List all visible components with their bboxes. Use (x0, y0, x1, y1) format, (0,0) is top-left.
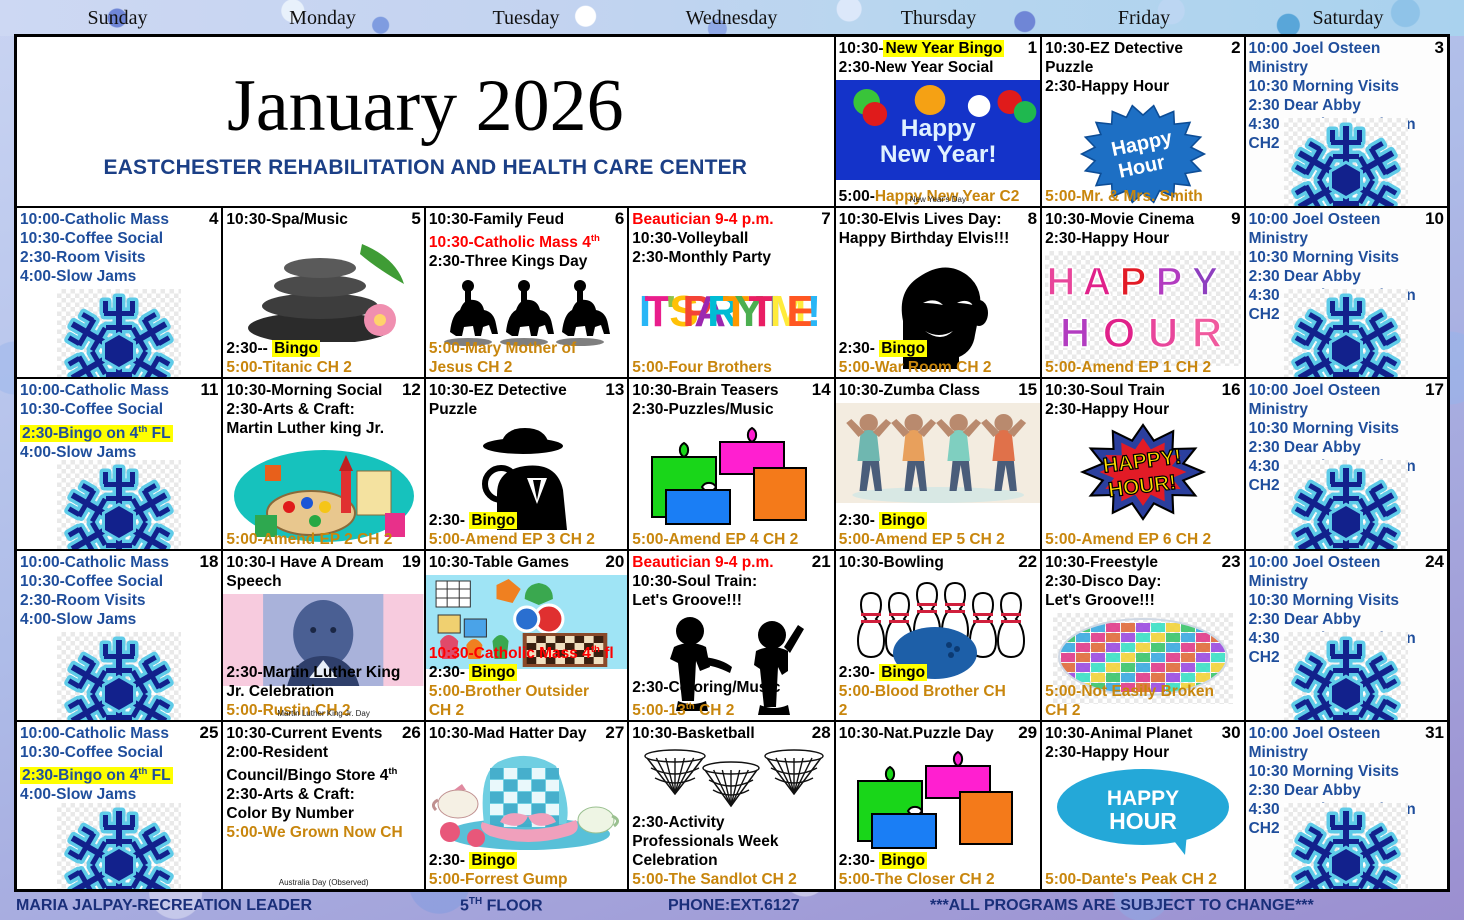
event-text: 10:00-Catholic Mass (20, 382, 169, 399)
day-top-events: 10:00-Catholic Mass10:30-Coffee Social2:… (20, 210, 218, 286)
zumba-dancers-graphic (836, 403, 1040, 503)
event-text: 10:30-Freestyle (1045, 554, 1158, 571)
event-text: 10:30-Current Events (226, 725, 382, 742)
weekday-label-thursday: Thursday (835, 0, 1042, 36)
event-text: 2:30-Activity (632, 814, 724, 831)
calendar-day-cell-4[interactable]: 410:00-Catholic Mass10:30-Coffee Social2… (16, 207, 222, 378)
day-top-events: 10:30-Bowling (839, 553, 1037, 572)
event-text: Professionals Week (632, 833, 778, 850)
day-top-events: 10:30-EZ DetectivePuzzle2:30-Happy Hour (1045, 39, 1240, 96)
day-number: 18 (200, 552, 219, 571)
day-artwork-spa-stones (223, 232, 423, 342)
event-text: Puzzle (429, 401, 477, 418)
day-bottom-events: 2:30-- Bingo5:00-Titanic CH 2 (226, 339, 420, 377)
day-top-events: 10:30-New Year Bingo2:30-New Year Social (839, 39, 1037, 77)
event-text: 10:30 Morning Visits (1249, 420, 1399, 437)
day-top-events: 10:30-Table Games (429, 553, 624, 572)
event-text: 10:30-Elvis Lives Day: (839, 211, 1002, 228)
event-text: 2:30-Monthly Party (632, 249, 771, 266)
day-number: 28 (812, 723, 831, 742)
day-top-events: 10:30-Brain Teasers2:30-Puzzles/Music (632, 381, 830, 419)
day-artwork-snowflake (17, 460, 221, 549)
event-text: New Year Bingo (883, 40, 1004, 57)
day-artwork-snowflake (17, 289, 221, 378)
calendar-day-cell-25[interactable]: 2510:00-Catholic Mass10:30-Coffee Social… (16, 721, 222, 890)
spa-stones-graphic (234, 232, 414, 342)
event-text: 2:30- (839, 664, 880, 681)
calendar-day-cell-7[interactable]: 7Beautician 9-4 p.m.10:30-Volleyball2:30… (628, 207, 834, 378)
event-text: 5:00-The Closer CH 2 (839, 871, 995, 888)
snowflake-graphic (59, 634, 179, 721)
event-text: 5:00-We Grown Now CH (226, 824, 402, 841)
day-bottom-events: 5:00-Dante's Peak CH 2 (1045, 870, 1240, 889)
event-text: 4:00-Slow Jams (20, 444, 136, 461)
event-text: 10:30-Soul Train: (632, 573, 757, 590)
day-top-events: 10:00-Catholic Mass10:30-Coffee Social2:… (20, 724, 218, 804)
event-text: 5:00-Amend EP 2 CH 2 (226, 531, 392, 548)
event-text: 2:30-Coloring/Music (632, 679, 780, 696)
snowflake-graphic (1286, 805, 1406, 890)
day-number: 12 (402, 380, 421, 399)
event-text: Let's Groove!!! (1045, 592, 1155, 609)
day-bottom-events: 2:30- Bingo5:00-Forrest Gump (429, 851, 624, 889)
event-text: 10:30-Mad Hatter Day (429, 725, 587, 742)
day-artwork-puzzle-pieces (836, 746, 1040, 856)
event-text: Speech (226, 573, 281, 590)
weekday-label-tuesday: Tuesday (424, 0, 628, 36)
day-bottom-events: 2:30-Coloring/Music5:00-13th CH 2 (632, 678, 830, 720)
day-number: 3 (1435, 38, 1444, 57)
day-artwork-zumba-dancers (836, 403, 1040, 503)
day-number: 20 (605, 552, 624, 571)
day-bottom-events: 2:30- Bingo5:00-Amend EP 5 CH 2 (839, 511, 1037, 549)
happy-new-year-banner-graphic: Happy New Year! (836, 80, 1040, 180)
calendar-day-cell-17[interactable]: 1710:00 Joel Osteen Ministry10:30 Mornin… (1245, 378, 1448, 549)
event-text: CH 2 (1045, 702, 1080, 719)
event-text: 2:30 Dear Abby (1249, 611, 1361, 628)
day-bottom-events: 5:00-Mary Mother ofJesus CH 2 (429, 339, 624, 377)
event-text: Bingo (879, 512, 927, 529)
weekday-label-friday: Friday (1042, 0, 1246, 36)
happy-hour-balloons-graphic: HAPPYHOUR (1045, 251, 1241, 361)
svg-text:New Year!: New Year! (880, 141, 997, 168)
event-text: 2 (839, 702, 848, 719)
svg-text:H: H (1046, 260, 1075, 304)
event-text: 2:30-Room Visits (20, 249, 145, 266)
calendar-day-cell-14[interactable]: 1410:30-Brain Teasers2:30-Puzzles/Music … (628, 378, 834, 549)
holiday-label: Australia Day (Observed) (223, 878, 423, 888)
calendar-day-cell-31[interactable]: 3110:00 Joel Osteen Ministry10:30 Mornin… (1245, 721, 1448, 890)
event-text: 10:30-Coffee Social (20, 573, 163, 590)
day-number: 10 (1425, 209, 1444, 228)
event-text: 2:30-- (226, 340, 272, 357)
holiday-label: Martin Luther King Jr. Day (223, 709, 423, 719)
calendar-day-cell-15[interactable]: 1510:30-Zumba Class 2:3 (835, 378, 1041, 549)
puzzle-pieces-graphic (848, 746, 1028, 856)
event-text: 5:00-Amend EP 5 CH 2 (839, 531, 1005, 548)
event-text: 2:30- (839, 340, 880, 357)
event-text: 5:00-The Sandlot CH 2 (632, 871, 797, 888)
event-text: 2:30-Martin Luther King (226, 664, 400, 681)
event-text: 2:30-Bingo on 4th FL (20, 767, 173, 784)
event-text: 2:30-Three Kings Day (429, 253, 588, 270)
day-bottom-events: 5:00-Amend EP 1 CH 2 (1045, 358, 1240, 377)
event-text: 2:30- (839, 852, 880, 869)
event-text: 10:30-Coffee Social (20, 401, 163, 418)
weekday-label-sunday: Sunday (14, 0, 221, 36)
event-text: 10:00-Catholic Mass (20, 725, 169, 742)
day-number: 16 (1222, 380, 1241, 399)
event-text: 4:00-Slow Jams (20, 786, 136, 803)
calendar-week-row: 1810:00-Catholic Mass10:30-Coffee Social… (16, 550, 1448, 721)
day-bottom-events: 2:30- Bingo5:00-War Room CH 2 (839, 339, 1037, 377)
event-text: 10:30-I Have A Dream (226, 554, 383, 571)
day-number: 26 (402, 723, 421, 742)
day-bottom-events: 2:30- Bingo5:00-Blood Brother CH2 (839, 663, 1037, 720)
day-number: 17 (1425, 380, 1444, 399)
snowflake-graphic (59, 291, 179, 378)
event-text: 5:00-Amend EP 3 CH 2 (429, 531, 595, 548)
calendar-day-cell-11[interactable]: 1110:00-Catholic Mass10:30-Coffee Social… (16, 378, 222, 549)
calendar-day-cell-28[interactable]: 2810:30-Basketball 2:30-ActivityProfessi… (628, 721, 834, 890)
calendar-day-cell-24[interactable]: 2410:00 Joel Osteen Ministry10:30 Mornin… (1245, 550, 1448, 721)
day-number: 9 (1231, 209, 1240, 228)
day-number: 7 (821, 209, 830, 228)
event-text: Bingo (469, 512, 517, 529)
day-top-events: 10:30-Morning Social2:30-Arts & Craft:Ma… (226, 381, 420, 438)
calendar-day-cell-21[interactable]: 21Beautician 9-4 p.m.10:30-Soul Train:Le… (628, 550, 834, 721)
event-text: 10:30 Morning Visits (1249, 592, 1399, 609)
day-number: 2 (1231, 38, 1240, 57)
calendar-day-cell-8[interactable]: 810:30-Elvis Lives Day:Happy Birthday El… (835, 207, 1041, 378)
event-text: 5:00-Four Brothers (632, 359, 772, 376)
day-bottom-events: 5:00-Mr. & Mrs. Smith (1045, 187, 1240, 206)
event-text: 2:30-Arts & Craft: (226, 401, 354, 418)
puzzle-pieces-graphic (642, 422, 822, 532)
event-text: 2:30 Dear Abby (1249, 268, 1361, 285)
basketball-hoops-graphic (637, 746, 827, 816)
calendar-day-cell-26[interactable]: 2610:30-Current Events2:00-ResidentCounc… (222, 721, 424, 890)
event-text: 10:30-Brain Teasers (632, 382, 778, 399)
day-artwork-happy-hour-balloons: HAPPYHOUR (1042, 251, 1243, 366)
calendar-day-cell-5[interactable]: 510:30-Spa/Music 2:30-- Bingo5:00-Titani… (222, 207, 424, 378)
happy-hour-oval-graphic: HAPPY HOUR (1053, 765, 1233, 857)
day-number: 15 (1018, 380, 1037, 399)
event-text: 2:30-Happy Hour (1045, 78, 1169, 95)
weekday-header-row: SundayMondayTuesdayWednesdayThursdayFrid… (0, 0, 1464, 36)
calendar-day-cell-2[interactable]: 210:30-EZ DetectivePuzzle2:30-Happy Hour… (1041, 36, 1244, 207)
svg-text:P: P (1156, 260, 1183, 304)
calendar-day-cell-19[interactable]: 1910:30-I Have A DreamSpeech 2:30-Martin… (222, 550, 424, 721)
svg-text:O: O (1103, 309, 1136, 356)
event-text: 4:00-Slow Jams (20, 611, 136, 628)
calendar-week-row: 410:00-Catholic Mass10:30-Coffee Social2… (16, 207, 1448, 378)
event-text: 5:00-Brother Outsider (429, 683, 589, 700)
event-text: Color By Number (226, 805, 353, 822)
event-text: Happy Birthday Elvis!!! (839, 230, 1010, 247)
day-top-events: 10:30-I Have A DreamSpeech (226, 553, 420, 591)
day-artwork-its-party-time: IT'SPARTYTIME! (629, 270, 833, 348)
day-artwork-snowflake (17, 803, 221, 890)
footer-leader: MARIA JALPAY-RECREATION LEADER (16, 897, 312, 915)
day-bottom-events: 5:00-Amend EP 4 CH 2 (632, 530, 830, 549)
calendar-day-cell-6[interactable]: 610:30-Family Feud10:30-Catholic Mass 4t… (425, 207, 628, 378)
event-text: Bingo (879, 664, 927, 681)
event-text: 10:30-Movie Cinema (1045, 211, 1194, 228)
event-text: 2:30-New Year Social (839, 59, 994, 76)
event-text: 10:30-EZ Detective (429, 382, 567, 399)
day-bottom-events: 2:30-ActivityProfessionals WeekCelebrati… (632, 813, 830, 889)
day-top-events: Beautician 9-4 p.m.10:30-Volleyball2:30-… (632, 210, 830, 267)
day-number: 24 (1425, 552, 1444, 571)
day-number: 14 (812, 380, 831, 399)
svg-text:H: H (1060, 309, 1090, 356)
facility-name: EASTCHESTER REHABILITATION AND HEALTH CA… (103, 156, 747, 180)
event-text: Martin Luther king Jr. (226, 420, 384, 437)
day-top-events: 10:30-Animal Planet2:30-Happy Hour (1045, 724, 1240, 762)
day-top-events: 10:30-Elvis Lives Day:Happy Birthday Elv… (839, 210, 1037, 248)
event-text: 5:00-Mary Mother of (429, 340, 576, 357)
calendar-day-cell-12[interactable]: 1210:30-Morning Social2:30-Arts & Craft:… (222, 378, 424, 549)
calendar-day-cell-20[interactable]: 2010:30-Table Games 10:30-Catholic Mass … (425, 550, 628, 721)
day-bottom-events: 5:00-Amend EP 2 CH 2 (226, 530, 420, 549)
snowflake-graphic (1286, 634, 1406, 721)
svg-text:HAPPY: HAPPY (1107, 787, 1179, 810)
day-number: 6 (615, 209, 624, 228)
event-text: CH 2 (429, 702, 464, 719)
event-text: 10:30-EZ Detective (1045, 40, 1183, 57)
event-text: 10:30-Coffee Social (20, 230, 163, 247)
event-text: 10:30-Soul Train (1045, 382, 1165, 399)
event-text: 10:30 Morning Visits (1249, 763, 1399, 780)
event-text: 10:30-Volleyball (632, 230, 748, 247)
day-top-events: 10:00-Catholic Mass10:30-Coffee Social2:… (20, 553, 218, 629)
event-text: 10:30-Table Games (429, 554, 569, 571)
day-number: 22 (1018, 552, 1037, 571)
day-number: 21 (812, 552, 831, 571)
weekday-label-saturday: Saturday (1246, 0, 1450, 36)
event-text: 2:30-Arts & Craft: (226, 786, 354, 803)
snowflake-graphic (1286, 120, 1406, 207)
event-text: 5:00-Amend EP 4 CH 2 (632, 531, 798, 548)
event-text: 10:30-Zumba Class (839, 382, 980, 399)
calendar-week-row: 1110:00-Catholic Mass10:30-Coffee Social… (16, 378, 1448, 549)
event-text: Bingo (879, 340, 927, 357)
its-party-time-graphic: IT'SPARTYTIME! (637, 270, 827, 348)
weekday-label-monday: Monday (221, 0, 424, 36)
day-bottom-events: 2:30- Bingo5:00-The Closer CH 2 (839, 851, 1037, 889)
calendar-day-cell-22[interactable]: 2210:30-Bowling 2:30- (835, 550, 1041, 721)
day-artwork-basketball-hoops (629, 746, 833, 816)
event-text: Bingo (272, 340, 320, 357)
event-text: 10:30-Morning Social (226, 382, 382, 399)
day-number: 13 (605, 380, 624, 399)
event-text: 10:00 Joel Osteen Ministry (1249, 40, 1381, 76)
calendar-day-cell-27[interactable]: 2710:30-Mad Hatter Day 2:30- Bingo5:00-F… (425, 721, 628, 890)
event-text: 10:30-Coffee Social (20, 744, 163, 761)
three-camels-graphic (432, 270, 622, 350)
day-bottom-events: 10:30-Catholic Mass 4th fl2:30- Bingo5:0… (429, 640, 624, 720)
day-top-events: 10:30-EZ DetectivePuzzle (429, 381, 624, 419)
event-text: 5:00-13th CH 2 (632, 702, 734, 719)
calendar-day-cell-3[interactable]: 310:00 Joel Osteen Ministry10:30 Morning… (1245, 36, 1448, 207)
event-text: 10:00 Joel Osteen Ministry (1249, 554, 1381, 590)
day-artwork-happy-hour-star: HAPPY! HOUR! (1042, 422, 1243, 522)
event-text: 5:00-Blood Brother CH (839, 683, 1006, 700)
day-number: 23 (1222, 552, 1241, 571)
event-text: 2:30- (429, 664, 470, 681)
event-text: 10:30 Morning Visits (1249, 78, 1399, 95)
day-top-events: 10:30-Spa/Music (226, 210, 420, 229)
event-text: 10:00 Joel Osteen Ministry (1249, 725, 1381, 761)
event-text: 10:30-Nat.Puzzle Day (839, 725, 994, 742)
event-text: 10:30- (839, 40, 884, 57)
snowflake-graphic (1286, 462, 1406, 549)
event-text: Puzzle (1045, 59, 1093, 76)
day-number: 11 (200, 380, 218, 399)
snowflake-graphic (59, 805, 179, 890)
day-number: 1 (1028, 38, 1037, 57)
day-artwork-happy-hour-oval: HAPPY HOUR (1042, 765, 1243, 857)
event-text: Bingo (469, 664, 517, 681)
event-text: Bingo (469, 852, 517, 869)
day-number: 29 (1018, 723, 1037, 742)
calendar-day-cell-30[interactable]: 3010:30-Animal Planet2:30-Happy Hour HAP… (1041, 721, 1244, 890)
snowflake-graphic (59, 462, 179, 549)
event-text: 2:30- (429, 852, 470, 869)
event-text: 10:30-Bowling (839, 554, 944, 571)
day-number: 8 (1028, 209, 1037, 228)
day-artwork-snowflake (1246, 118, 1447, 207)
event-text: 2:30- (429, 512, 470, 529)
event-text: 5:00-Mr. & Mrs. Smith (1045, 188, 1203, 205)
footer-phone: PHONE:EXT.6127 (668, 897, 800, 915)
day-top-events: 10:30-Basketball (632, 724, 830, 743)
event-text: 10:00-Catholic Mass (20, 211, 169, 228)
event-text: Beautician 9-4 p.m. (632, 554, 773, 571)
svg-text:R: R (1192, 309, 1222, 356)
event-text: 2:30- (839, 512, 880, 529)
svg-text:P: P (1120, 260, 1147, 304)
holiday-label: New Year's Day (836, 195, 1040, 205)
svg-text:Happy: Happy (900, 115, 975, 142)
event-text: 10:30 Morning Visits (1249, 249, 1399, 266)
event-text: 5:00-Forrest Gump (429, 871, 568, 888)
calendar-day-cell-18[interactable]: 1810:00-Catholic Mass10:30-Coffee Social… (16, 550, 222, 721)
event-text: 10:00-Catholic Mass (20, 554, 169, 571)
event-text: 2:30-Bingo on 4th FL (20, 425, 173, 442)
day-number: 25 (200, 723, 219, 742)
calendar-day-cell-23[interactable]: 2310:30-Freestyle2:30-Disco Day:Let's Gr… (1041, 550, 1244, 721)
day-artwork-puzzle-pieces (629, 422, 833, 532)
day-artwork-snowflake (1246, 289, 1447, 378)
day-top-events: 10:00-Catholic Mass10:30-Coffee Social2:… (20, 381, 218, 461)
day-bottom-events: 2:30- Bingo5:00-Amend EP 3 CH 2 (429, 511, 624, 549)
day-top-events: 10:30-Nat.Puzzle Day (839, 724, 1037, 743)
day-number: 30 (1222, 723, 1241, 742)
event-text: 5:00-Amend EP 1 CH 2 (1045, 359, 1211, 376)
calendar-week-row: January 2026 EASTCHESTER REHABILITATION … (16, 36, 1448, 207)
event-text: 2:30 Dear Abby (1249, 782, 1361, 799)
event-text: 5:00-Dante's Peak CH 2 (1045, 871, 1217, 888)
calendar-title-block: January 2026 EASTCHESTER REHABILITATION … (16, 36, 835, 207)
day-number: 4 (209, 209, 218, 228)
event-text: Let's Groove!!! (632, 592, 742, 609)
event-text: 10:30-Animal Planet (1045, 725, 1192, 742)
event-text: 10:30-Catholic Mass 4th (429, 234, 600, 251)
day-artwork-three-camels (426, 270, 627, 350)
event-text: 4:00-Slow Jams (20, 268, 136, 285)
event-text: Bingo (879, 852, 927, 869)
event-text: 10:30-Basketball (632, 725, 754, 742)
event-text: Jesus CH 2 (429, 359, 513, 376)
day-number: 31 (1425, 723, 1444, 742)
event-text: 10:30-Catholic Mass 4th fl (429, 645, 614, 662)
svg-text:U: U (1148, 309, 1178, 356)
calendar-day-cell-29[interactable]: 2910:30-Nat.Puzzle Day 2:30- Bingo5:00-T… (835, 721, 1041, 890)
event-text: Celebration (632, 852, 717, 869)
event-text: Council/Bingo Store 4th (226, 767, 397, 784)
event-text: 2:30-Happy Hour (1045, 230, 1169, 247)
page-title: January 2026 (227, 64, 624, 148)
snowflake-graphic (1286, 291, 1406, 378)
day-bottom-events: 5:00-Not Easily BrokenCH 2 (1045, 682, 1240, 720)
event-text: 10:30-Family Feud (429, 211, 564, 228)
event-text: 5:00-Not Easily Broken (1045, 683, 1214, 700)
day-top-events: 10:30-Soul Train2:30-Happy Hour (1045, 381, 1240, 419)
event-text: 5:00-Titanic CH 2 (226, 359, 351, 376)
day-artwork-snowflake (1246, 460, 1447, 549)
event-text: 2:30-Happy Hour (1045, 401, 1169, 418)
svg-text:HOUR: HOUR (1109, 808, 1177, 834)
calendar-footer: MARIA JALPAY-RECREATION LEADER 5TH FLOOR… (0, 892, 1464, 920)
day-top-events: 10:30-Family Feud10:30-Catholic Mass 4th… (429, 210, 624, 271)
day-artwork-snowflake (1246, 803, 1447, 890)
calendar-day-cell-1[interactable]: 110:30-New Year Bingo2:30-New Year Socia… (835, 36, 1041, 207)
calendar-grid: January 2026 EASTCHESTER REHABILITATION … (14, 34, 1450, 892)
footer-notice: ***ALL PROGRAMS ARE SUBJECT TO CHANGE*** (930, 897, 1314, 915)
event-text: 5:00-Amend EP 6 CH 2 (1045, 531, 1211, 548)
mad-hatter-graphic (432, 746, 622, 854)
day-bottom-events: 5:00-Amend EP 6 CH 2 (1045, 530, 1240, 549)
day-number: 19 (402, 552, 421, 571)
day-bottom-events: 5:00-Four Brothers (632, 358, 830, 377)
calendar-day-cell-9[interactable]: 910:30-Movie Cinema2:30-Happy HourHAPPYH… (1041, 207, 1244, 378)
day-number: 5 (411, 209, 420, 228)
calendar-day-cell-10[interactable]: 1010:00 Joel Osteen Ministry10:30 Mornin… (1245, 207, 1448, 378)
happy-hour-star-graphic: HAPPY! HOUR! (1048, 422, 1238, 522)
calendar-week-row: 2510:00-Catholic Mass10:30-Coffee Social… (16, 721, 1448, 890)
calendar-day-cell-16[interactable]: 1610:30-Soul Train2:30-Happy Hour HAPPY!… (1041, 378, 1244, 549)
event-text: 2:30 Dear Abby (1249, 97, 1361, 114)
day-artwork-snowflake (1246, 632, 1447, 721)
event-text: 10:30-Spa/Music (226, 211, 347, 228)
event-text: 10:00 Joel Osteen Ministry (1249, 382, 1381, 418)
calendar-day-cell-13[interactable]: 1310:30-EZ DetectivePuzzle 2:30- Bingo5:… (425, 378, 628, 549)
event-text: 2:30 Dear Abby (1249, 439, 1361, 456)
event-text: 2:30-Happy Hour (1045, 744, 1169, 761)
day-artwork-happy-new-year-banner: Happy New Year! (836, 80, 1040, 180)
event-text: 2:00-Resident (226, 744, 328, 761)
day-top-events: 10:30-Freestyle2:30-Disco Day:Let's Groo… (1045, 553, 1240, 610)
day-top-events: Beautician 9-4 p.m.10:30-Soul Train:Let'… (632, 553, 830, 610)
day-artwork-snowflake (17, 632, 221, 721)
footer-floor: 5TH FLOOR (460, 896, 543, 915)
day-top-events: 10:30-Zumba Class (839, 381, 1037, 400)
event-text: 2:30-Puzzles/Music (632, 401, 773, 418)
event-text: 2:30-Disco Day: (1045, 573, 1161, 590)
weekday-label-wednesday: Wednesday (628, 0, 835, 36)
